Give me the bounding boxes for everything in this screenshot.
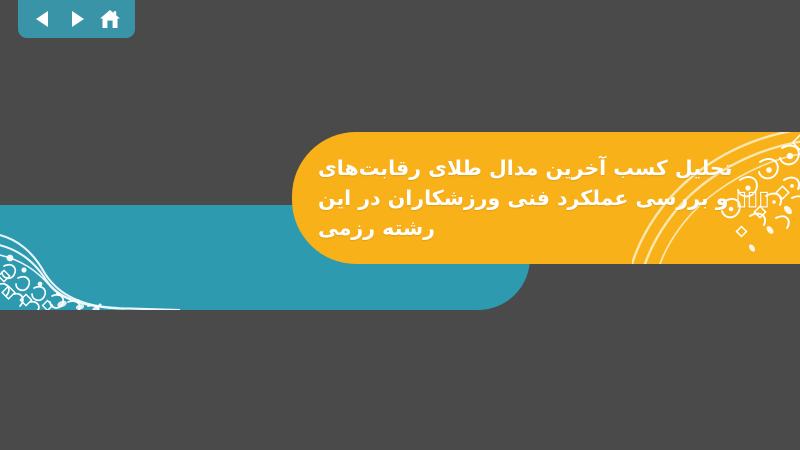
background-lower-area (0, 310, 800, 450)
back-arrow-icon (32, 8, 54, 30)
title-banner: تحلیل کسب آخرین مدال طلای رقابت‌های ▯▯▯ … (292, 132, 800, 264)
slide-canvas: تحلیل کسب آخرین مدال طلای رقابت‌های ▯▯▯ … (0, 0, 800, 450)
title-line-3: رشته رزمی (318, 213, 435, 243)
home-button[interactable] (95, 4, 125, 34)
home-icon (98, 7, 122, 31)
title-line-1: تحلیل کسب آخرین مدال طلای رقابت‌های (318, 153, 732, 183)
forward-arrow-icon (66, 8, 88, 30)
slide-title: تحلیل کسب آخرین مدال طلای رقابت‌های ▯▯▯ … (292, 132, 800, 264)
back-button[interactable] (28, 4, 58, 34)
forward-button[interactable] (62, 4, 92, 34)
title-line-2: ▯▯▯ و بررسی عملکرد فنی ورزشکاران در این (318, 183, 769, 213)
navigation-bar (18, 0, 135, 38)
